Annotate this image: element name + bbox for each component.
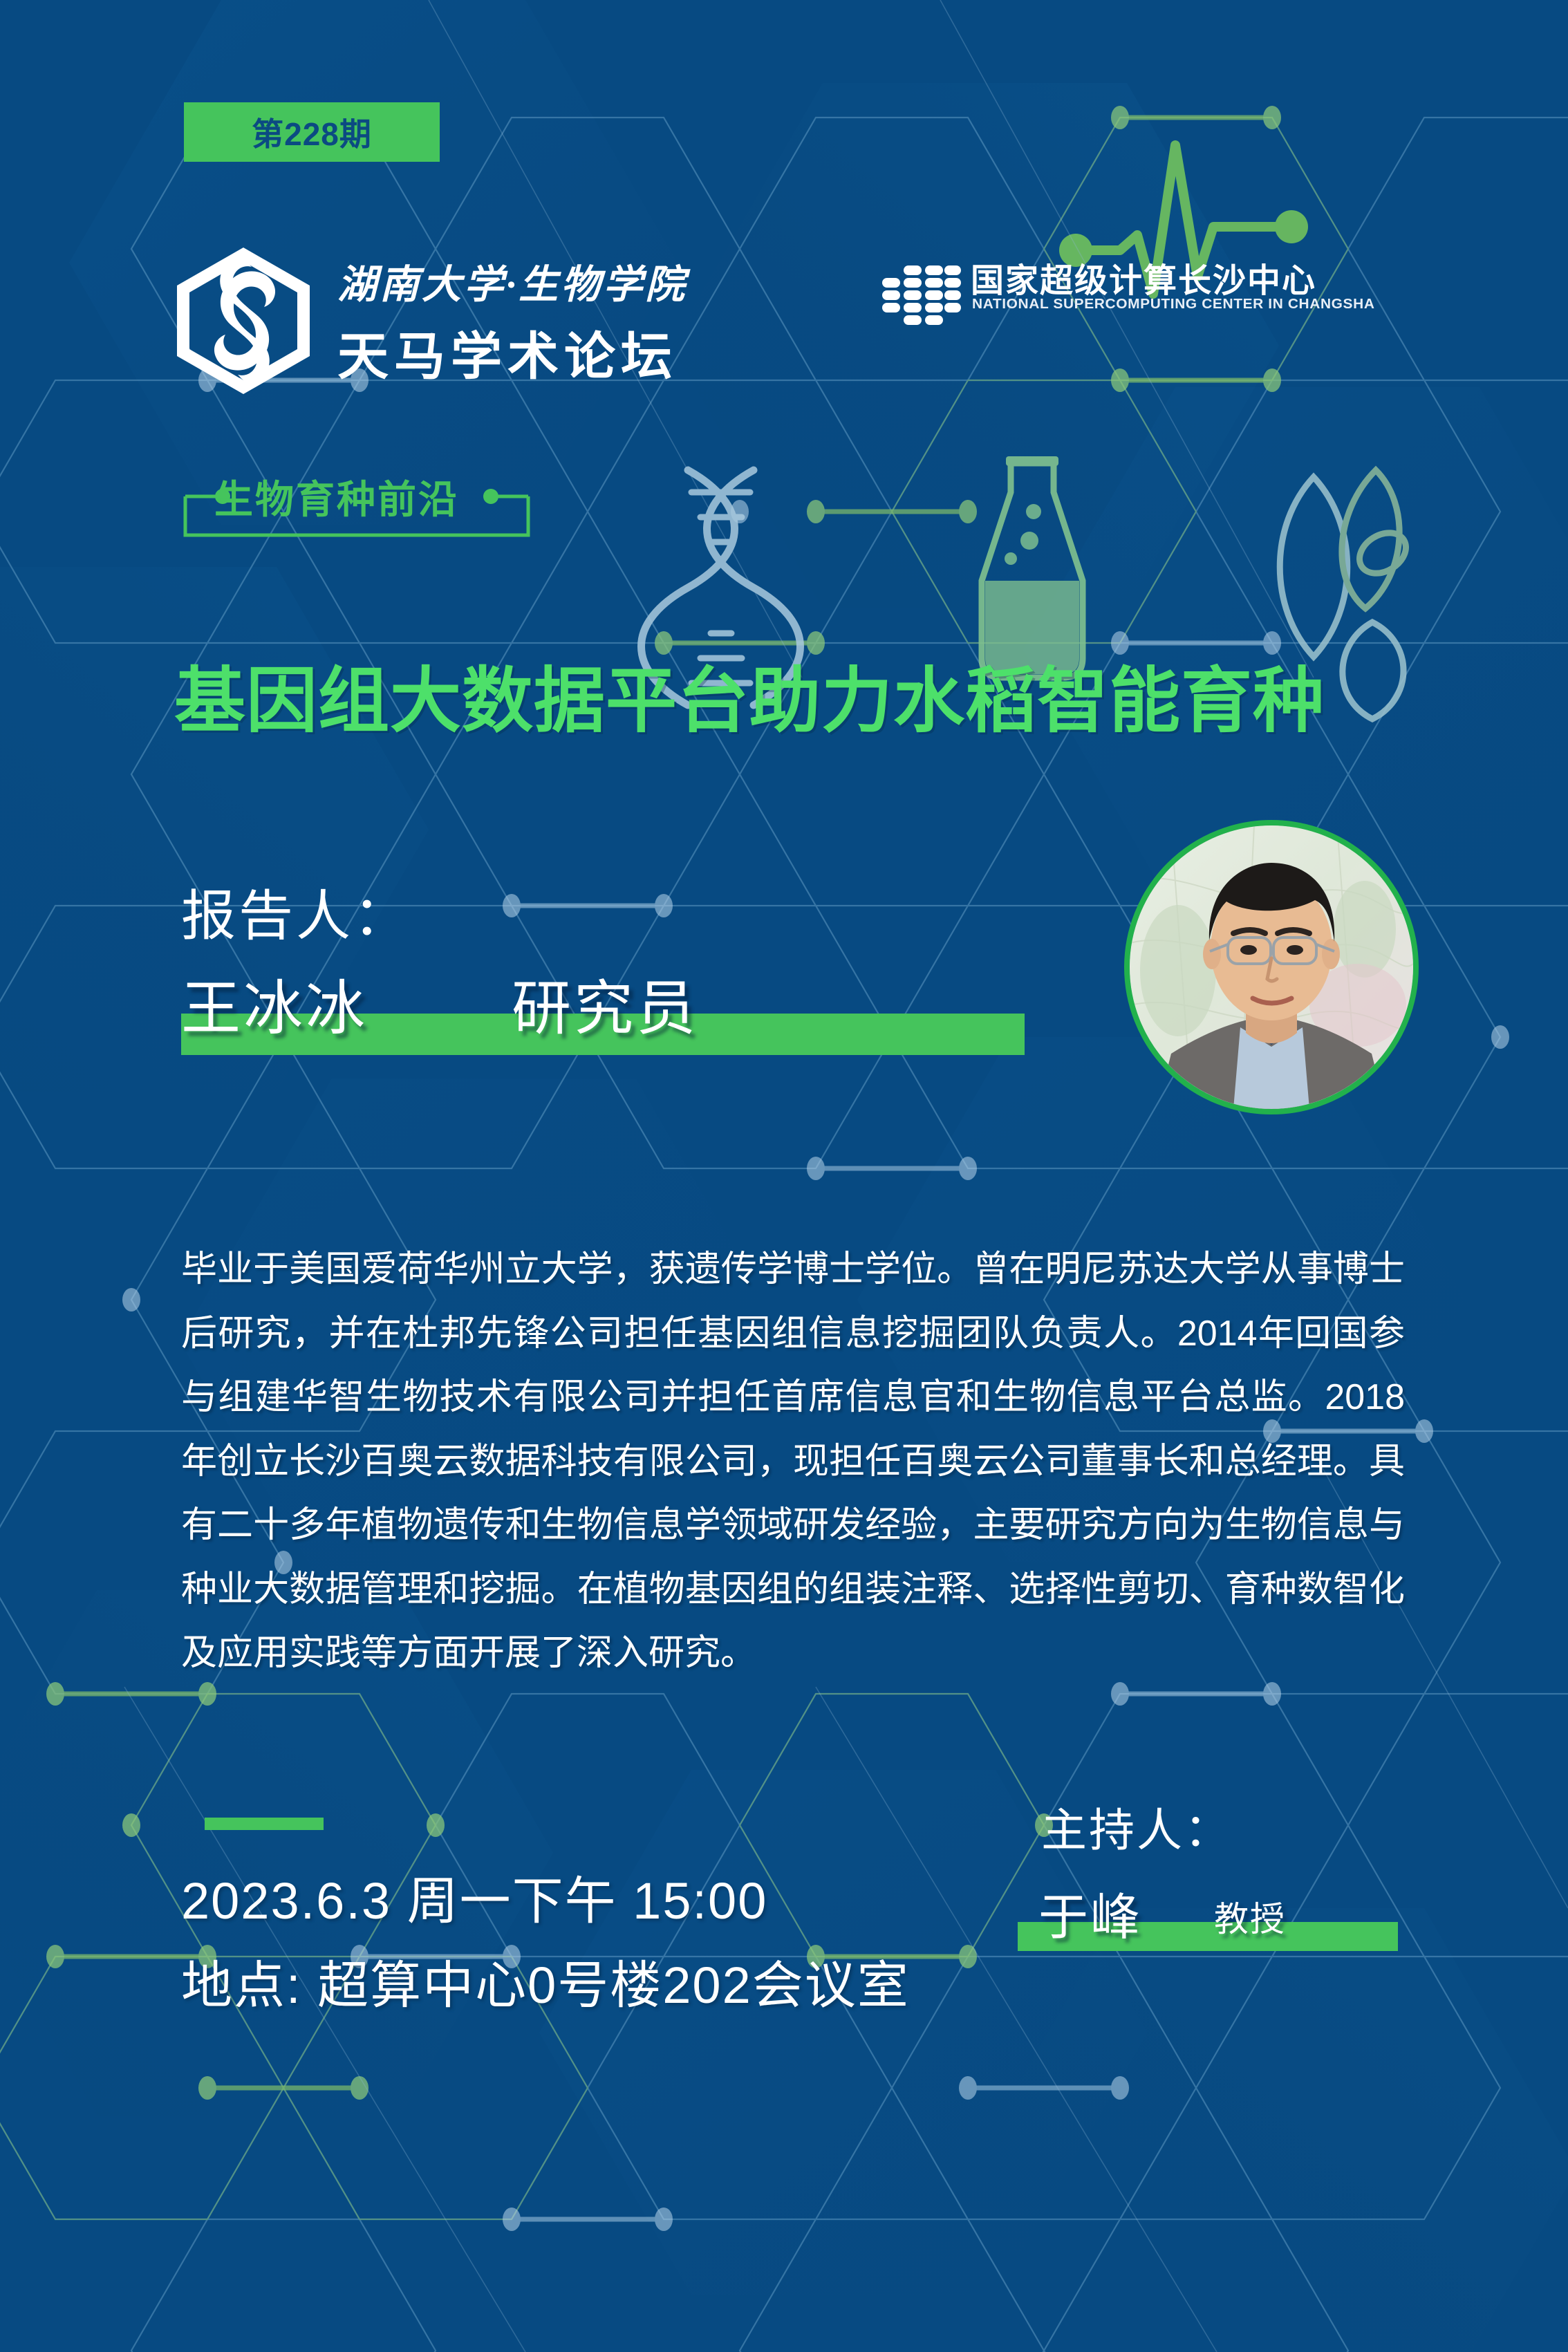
event-datetime: 2023.6.3 周一下午 15:00 — [181, 1860, 767, 1934]
nscc-name-en: NATIONAL SUPERCOMPUTING CENTER IN CHANGS… — [972, 296, 1375, 312]
topic-tag: 生物育种前沿 — [181, 484, 532, 539]
speaker-name: 王冰冰 — [181, 960, 368, 1046]
nscc-name-cn: 国家超级计算长沙中心 — [971, 253, 1316, 301]
university-name: 湖南大学·生物学院 — [337, 253, 687, 310]
speaker-bio: 毕业于美国爱荷华州立大学，获遗传学博士学位。曾在明尼苏达大学从事博士后研究，并在… — [181, 1238, 1405, 1686]
issue-badge: 第228期 — [184, 102, 440, 162]
footer-accent-bar — [205, 1818, 324, 1830]
speaker-photo-icon — [1130, 825, 1413, 1109]
speaker-title: 研究员 — [512, 960, 698, 1046]
topic-tag-label: 生物育种前沿 — [214, 469, 459, 525]
page-title: 基因组大数据平台助力水稻智能育种 — [174, 643, 1325, 746]
tianma-forum-logo-icon — [174, 246, 312, 395]
host-name: 于峰 — [1038, 1876, 1142, 1949]
poster-root: 第228期 湖南大学·生物学院 天马学术论坛 — [0, 0, 1568, 2352]
host-title: 教授 — [1214, 1892, 1286, 1941]
speaker-avatar — [1124, 820, 1419, 1114]
nscc-logo: 国家超级计算长沙中心 NATIONAL SUPERCOMPUTING CENTE… — [881, 253, 1337, 336]
event-location: 地点: 超算中心0号楼202会议室 — [181, 1944, 910, 2018]
nscc-dot-matrix-icon — [881, 264, 962, 332]
logo-row: 湖南大学·生物学院 天马学术论坛 — [174, 241, 1253, 407]
speaker-label: 报告人： — [181, 871, 411, 951]
host-label: 主持人： — [1041, 1793, 1232, 1860]
issue-badge-label: 第228期 — [252, 109, 372, 155]
forum-name: 天马学术论坛 — [337, 315, 678, 389]
